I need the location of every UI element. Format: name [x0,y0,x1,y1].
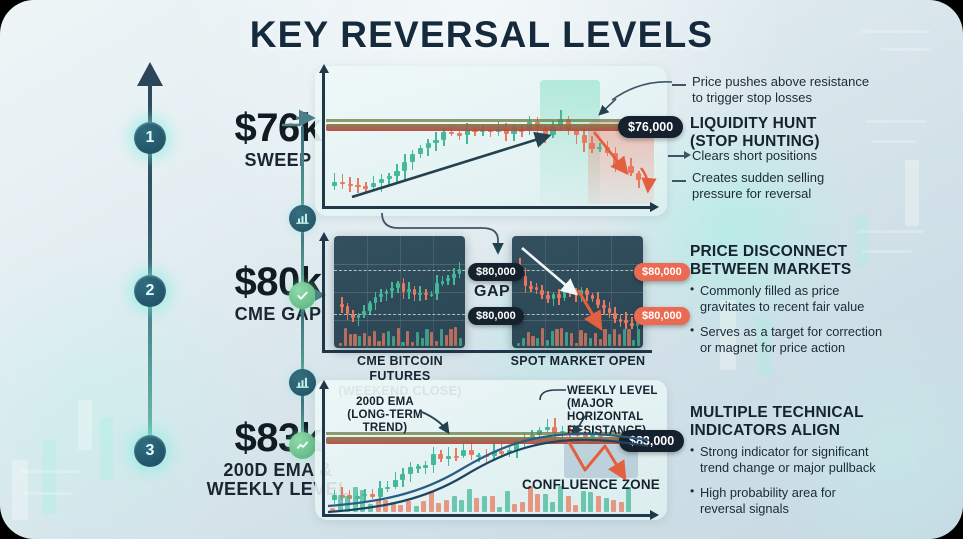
volume-bar [444,500,449,512]
chart-2-badge-right-bottom: $80,000 [634,307,690,325]
volume-bar [363,333,366,346]
candle-wick [425,461,427,475]
candle-body [418,293,422,296]
chart-3-resistance-line [326,437,646,444]
section-3-bullet-1: Strong indicator for significant trend c… [690,444,890,476]
volume-bar [391,502,396,512]
trend-line-icon[interactable] [289,432,316,459]
chart-3-y-axis [322,388,325,516]
candle-body [628,166,633,173]
candle-body [446,456,451,459]
ghost-candle [42,440,56,515]
candle-body [371,183,376,187]
chart-2-badge-left-bottom: $80,000 [468,307,524,325]
candle-body [546,295,550,299]
volume-bar [608,334,611,346]
candle-body [454,456,459,459]
volume-bar [584,333,587,346]
candle-body [394,171,399,176]
candle-body [378,488,383,496]
volume-bar [520,502,525,512]
candle-body [613,313,617,319]
candle-body [426,143,431,148]
candle-body [582,135,587,143]
candle-body [400,474,405,480]
volume-bar [436,503,441,512]
volume-bar [425,329,428,346]
candle-body [332,495,337,500]
volume-bar [522,338,525,346]
section-1-heading: LIQUIDITY HUNT (STOP HUNTING) [690,115,880,152]
volume-bar [387,331,390,346]
ghost-line [858,230,924,233]
volume-bar [345,496,350,512]
chart-3-confluence-label: CONFLUENCE ZONE [516,477,666,493]
chart-2-badge-left-top: $80,000 [468,263,524,281]
volume-bar [627,329,630,346]
connector-rail [301,395,304,437]
volume-bar [482,496,487,512]
candle-body [596,299,600,305]
volume-bar [368,336,371,346]
chart-3-x-axis [322,514,652,517]
candle-body [624,320,628,323]
candle-body [568,290,572,293]
candle-body [346,306,350,314]
volume-bar [376,500,381,512]
volume-bar [536,338,539,346]
section-1-note-2: Creates sudden selling pressure for reve… [692,170,882,202]
section-2-bullet-1: Commonly filled as price gravitates to r… [690,283,890,315]
candle-body [608,308,612,313]
candle-body [605,147,610,153]
candle-body [580,290,584,295]
candle-body [613,153,618,165]
volume-bar [632,340,635,346]
volume-bar [566,496,571,512]
volume-bar [353,487,358,512]
ghost-candle [905,160,919,226]
volume-bar [353,334,356,346]
volume-bar [338,495,343,512]
candle-body [393,480,398,487]
chart-2-cme-panel [334,236,465,348]
bar-chart-icon[interactable] [289,205,316,232]
volume-bar [599,339,602,346]
candle-body [407,289,411,292]
volume-bar [531,336,534,346]
volume-bar [445,335,448,346]
candle-body [433,140,438,143]
volume-bar [497,507,502,512]
volume-bar [594,333,597,346]
volume-bar [360,490,365,512]
candle-body [563,290,567,298]
volume-bar [596,496,601,512]
chart-1-y-axis [322,72,325,208]
page-title: KEY REVERSAL LEVELS [0,14,963,56]
candle-body [413,289,417,295]
candle-body [435,283,439,293]
volume-bar [579,330,582,346]
volume-bar [570,333,573,346]
candle-body [535,287,539,290]
candle-body [431,454,436,465]
infographic-canvas: KEY REVERSAL LEVELS 1 2 3 $76k SWEEP $80… [0,0,963,539]
chart-2-caption-right: SPOT MARKET OPEN [508,354,648,369]
chart-2-spot-panel [512,236,643,348]
volume-bar [512,504,517,512]
volume-bar [452,496,457,512]
candle-body [385,291,389,294]
section-3-bullet-2: High probability area for reversal signa… [690,485,890,517]
candle-body [355,185,360,188]
candle-body [457,133,462,136]
volume-bar [454,327,457,346]
volume-bar [421,501,426,512]
candle-body [374,297,378,304]
volume-bar [550,502,555,512]
volume-bar [546,340,549,346]
volume-bar [377,341,380,346]
section-3-bullets: Strong indicator for significant trend c… [690,444,890,526]
chart-1-resistance-line [326,124,646,131]
candle-body [348,184,353,187]
volume-bar [435,341,438,346]
volume-bar [613,329,616,346]
volume-bar [397,328,400,346]
candle-body [636,173,641,180]
volume-bar [541,328,544,346]
volume-bar [543,494,548,512]
candle-body [423,465,428,468]
volume-bar [560,328,563,346]
candle-body [387,176,392,180]
volume-bar [611,500,616,512]
candle-body [363,186,368,189]
section-1-note-1: Clears short positions [692,148,882,164]
volume-bar [581,491,586,512]
volume-bar [535,494,540,512]
volume-bar [373,331,376,346]
candle-body [379,179,384,183]
candle-wick [547,419,549,433]
volume-bar [392,336,395,346]
volume-bar [344,328,347,346]
timeline-node-3[interactable]: 3 [134,435,166,467]
candle-body [499,451,504,454]
lead-line [672,84,686,86]
check-circle-icon[interactable] [289,282,316,309]
ghost-candle [12,460,28,520]
candle-body [446,278,450,282]
candle-body [591,295,595,299]
volume-bar [430,332,433,346]
volume-bar [527,332,530,346]
section-3-heading: MULTIPLE TECHNICAL INDICATORS ALIGN [690,404,890,441]
candle-body [410,154,415,162]
chart-2-y-axis [322,240,325,352]
section-2-bullets: Commonly filled as price gravitates to r… [690,283,890,365]
volume-bar [406,331,409,346]
volume-bar [429,491,434,512]
volume-bar [575,343,578,346]
candle-body [390,288,394,291]
volume-bar [382,333,385,346]
volume-bar [349,334,352,346]
candle-body [370,494,375,497]
volume-bar [517,343,520,346]
candle-body [469,450,474,456]
candle-body [540,290,544,295]
candle-body [574,291,578,295]
volume-bar [618,334,621,346]
candle-body [379,294,383,297]
candle-body [529,286,533,289]
timeline-node-2[interactable]: 2 [134,275,166,307]
chart-1-y-arrow-icon [319,64,329,73]
chart-2-badge-right-top: $80,000 [634,263,690,281]
ghost-line [24,492,72,495]
section-1-top-note: Price pushes above resistance to trigger… [692,74,882,106]
candle-body [357,315,361,318]
chart-1-x-axis [322,206,652,209]
ghost-candle [100,418,113,480]
ghost-candle [78,400,92,450]
chart-3-weekly-annotation: WEEKLY LEVEL (MAJOR HORIZONTAL RESISTANC… [567,385,671,438]
ghost-line [20,470,80,473]
candle-body [424,293,428,296]
candle-body [449,132,454,135]
candle-body [441,132,446,140]
volume-bar [623,329,626,346]
volume-bar [467,489,472,512]
volume-bar [637,329,640,346]
volume-bar [474,498,479,512]
candle-body [619,319,623,322]
candle-body [507,450,512,453]
candle-body [402,162,407,171]
section-2-heading: PRICE DISCONNECT BETWEEN MARKETS [690,243,890,280]
timeline-node-1[interactable]: 1 [134,122,166,154]
candle-body [524,276,528,286]
lead-line [672,180,686,182]
chart-3-x-arrow-icon [650,510,659,520]
volume-bar [401,342,404,346]
candle-body [368,303,372,311]
candle-body [340,304,344,307]
volume-bar [573,505,578,512]
candle-body [332,182,337,186]
volume-bar [339,343,342,346]
chart-3-y-arrow-icon [319,380,329,389]
volume-bar [459,500,464,512]
volume-bar [414,506,419,512]
volume-bar [330,508,335,512]
candle-wick [455,448,457,461]
volume-bar [588,492,593,512]
candle-body [418,148,423,154]
volume-bar [551,331,554,346]
candle-body [458,269,462,274]
candle-body [362,311,366,315]
chart-2-y-arrow-icon [319,232,329,241]
section-2-bullet-2: Serves as a target for correction or mag… [690,324,890,356]
volume-bar [619,502,624,512]
candle-body [452,274,456,278]
candle-body [351,314,355,319]
volume-bar [416,332,419,346]
volume-bar [421,338,424,346]
candle-body [408,467,413,474]
candle-body [545,427,550,430]
candle-body [585,290,589,295]
bar-chart-icon[interactable] [289,369,316,396]
candle-body [630,323,634,326]
volume-bar [603,329,606,346]
candle-body [492,451,497,455]
chart-2-gap-label: GAP [474,283,510,301]
candle-body [416,466,421,469]
candle-body [621,165,626,168]
lead-arrow-icon [684,151,691,159]
candle-body [589,143,594,149]
volume-bar [440,329,443,346]
volume-bar [411,342,414,346]
volume-bar [565,332,568,346]
candle-body [438,454,443,459]
volume-bar [555,329,558,346]
volume-bar [398,505,403,512]
volume-bar [505,491,510,512]
chart-3-ema-annotation: 200D EMA (LONG-TERM TREND) [330,396,440,436]
candle-body [441,281,445,284]
volume-bar [358,336,361,346]
volume-bar [383,500,388,512]
candle-body [552,294,556,299]
chart-2-x-axis [322,350,652,353]
volume-bar [449,329,452,346]
candle-body [557,294,561,298]
candle-body [402,283,406,292]
volume-bar [589,338,592,346]
chart-1-price-badge: $76,000 [618,116,683,138]
chart-1-resistance-secondary [326,119,646,122]
volume-bar [406,501,411,512]
candle-body [461,450,466,456]
candle-wick [622,157,624,170]
candle-body [602,305,606,308]
volume-bar [459,338,462,346]
candle-body [340,182,345,185]
volume-bar [604,498,609,512]
volume-bar [490,496,495,512]
candle-body [396,283,400,288]
volume-bar [368,504,373,512]
